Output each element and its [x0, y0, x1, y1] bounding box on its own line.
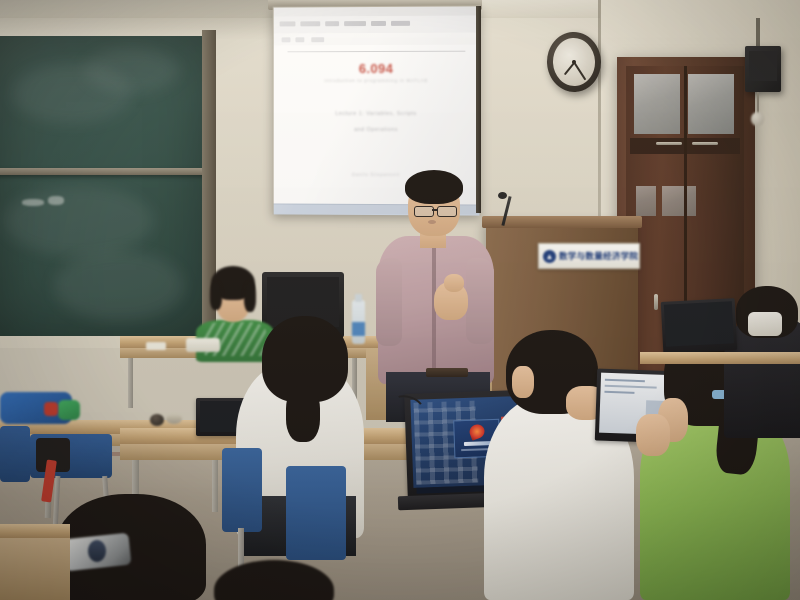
- school-emblem-icon: ▲: [543, 250, 556, 263]
- red-item: [44, 402, 58, 416]
- desk-object: [166, 414, 182, 424]
- wall-speaker: [745, 46, 781, 92]
- desk-back-right: [640, 352, 800, 364]
- matlab-wordmark: [464, 441, 491, 446]
- laptop-back-right[interactable]: [661, 298, 738, 354]
- face-mask: [748, 312, 782, 336]
- speaker-grille: [749, 51, 777, 81]
- ponytail: [286, 386, 320, 442]
- lecturer-left-arm: [376, 258, 402, 346]
- student-center-ear: [512, 366, 534, 398]
- eyeglass-bridge: [432, 209, 437, 211]
- chair-front-left: [222, 448, 262, 532]
- desk-object: [150, 414, 164, 426]
- desk-leg: [128, 358, 133, 408]
- lecturer-thumb: [444, 274, 464, 292]
- clock-face: [552, 37, 596, 87]
- bottle-cap: [355, 294, 362, 302]
- hanging-bulb: [751, 112, 764, 126]
- microphone-head: [498, 192, 507, 199]
- chair-center: [286, 466, 346, 560]
- tissue-box: [186, 338, 220, 352]
- chalk-rail: [0, 168, 208, 175]
- lecturer-right-arm: [466, 258, 494, 344]
- hair-side: [244, 282, 256, 312]
- eyeglass-lens-right: [437, 206, 457, 217]
- desk-foreground-left-apron: [0, 538, 70, 600]
- classroom-photo: 6.094 Introduction to programming in MAT…: [0, 0, 800, 600]
- lecturer-mouth: [428, 220, 436, 224]
- desk-foreground-left: [0, 524, 70, 538]
- chair-far-left: [0, 426, 30, 482]
- chalkboard: [0, 36, 214, 336]
- screen-right-edge: [476, 6, 481, 213]
- lecturer-hair: [405, 170, 463, 204]
- speaker-bracket: [756, 18, 760, 48]
- eyeglass-lens-left: [414, 206, 434, 217]
- ceiling-shadow: [0, 0, 300, 40]
- hair-bow-knot: [88, 540, 106, 562]
- matlab-logo-icon: [468, 422, 487, 440]
- hair-side: [210, 282, 222, 310]
- department-sign: ▲ 数学与数量经济学院: [538, 243, 640, 269]
- belt: [426, 368, 468, 377]
- water-bottle: [352, 300, 365, 344]
- green-bag: [58, 400, 80, 420]
- paper: [146, 342, 166, 350]
- student-green-hand: [636, 414, 670, 456]
- department-sign-text: 数学与数量经济学院: [559, 250, 638, 262]
